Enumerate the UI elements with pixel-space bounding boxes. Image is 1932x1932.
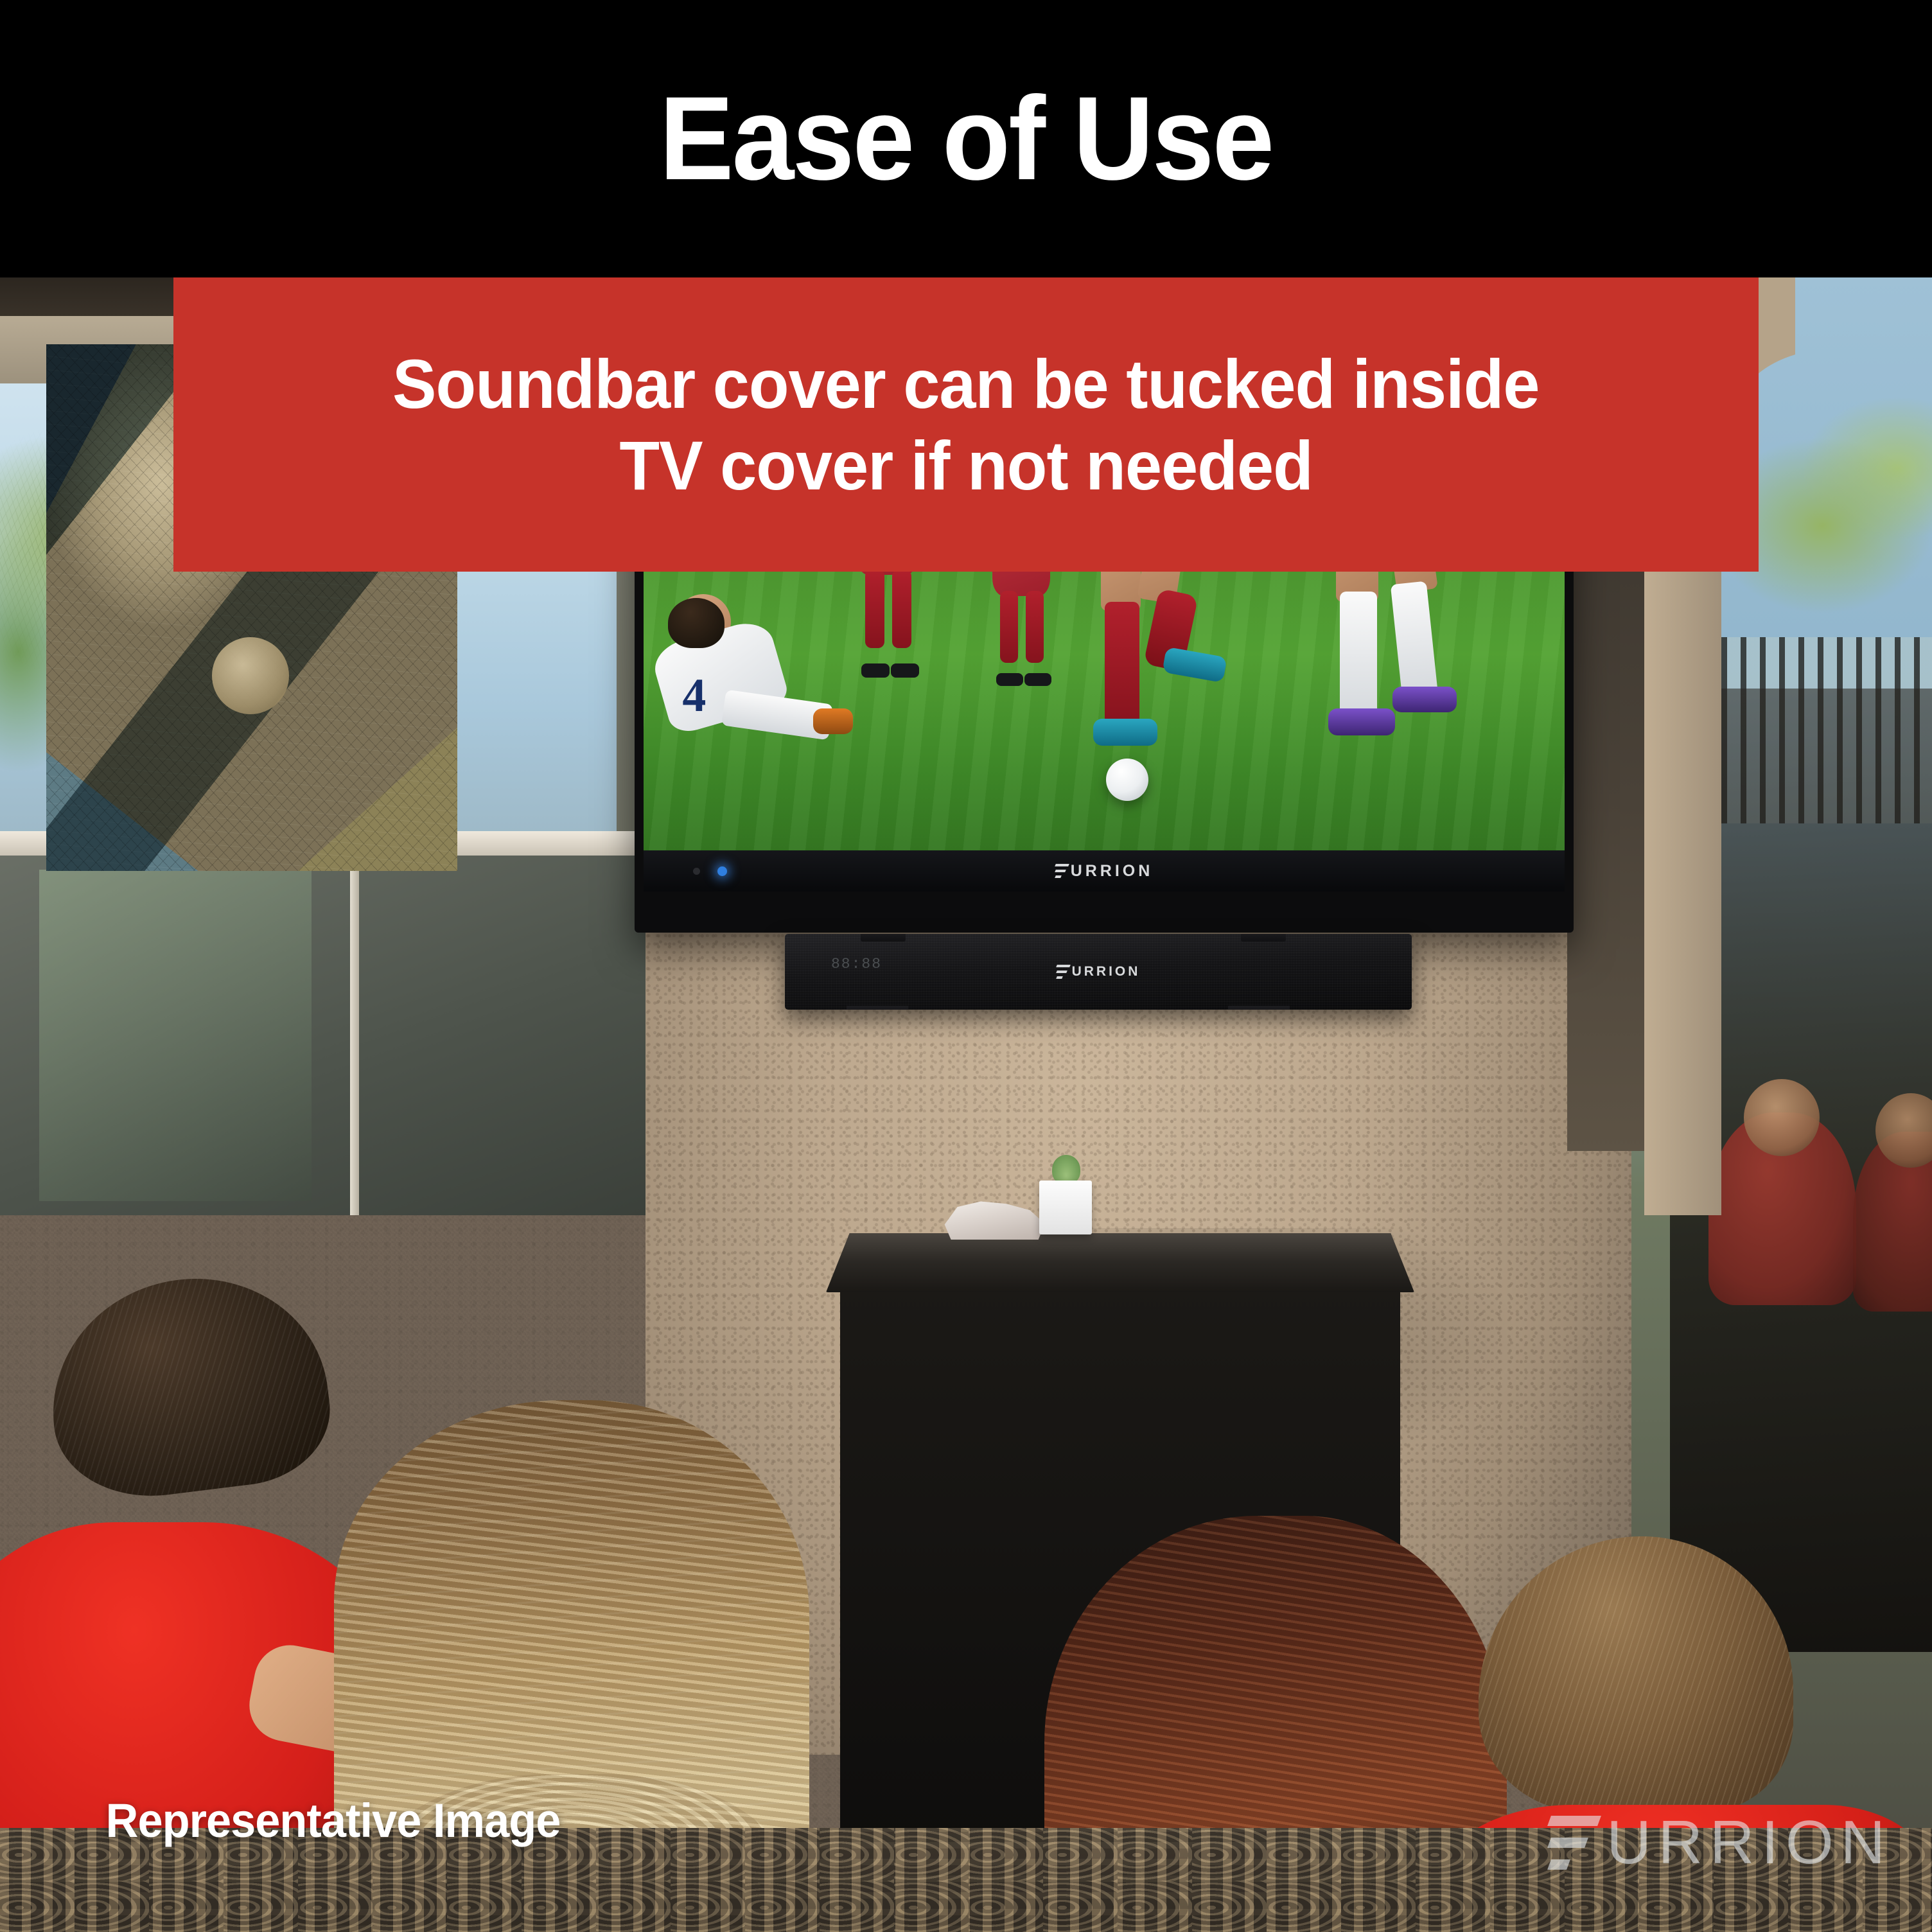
soundbar-brand-logo: URRION <box>1057 964 1141 979</box>
tv-ir-sensor <box>693 868 700 875</box>
soundbar-bracket-right <box>1241 934 1286 942</box>
soundbar-foot-right <box>1228 1006 1290 1010</box>
representative-image-disclaimer: Representative Image <box>106 1793 561 1848</box>
soundbar-foot-left <box>847 1006 908 1010</box>
tv-power-led <box>717 866 727 876</box>
cabinet-top-surface <box>826 1233 1414 1292</box>
furrion-f-icon-soundbar <box>1057 964 1070 979</box>
furrion-f-icon-watermark <box>1549 1813 1599 1872</box>
player-white-sliding: 4 <box>653 589 845 750</box>
header-bar: Ease of Use <box>0 0 1932 277</box>
banner-line-1: Soundbar cover can be tucked inside <box>392 343 1540 425</box>
soccer-ball <box>1106 759 1148 801</box>
tv-bezel: URRION <box>644 850 1565 891</box>
white-planter <box>1039 1181 1092 1234</box>
seated-man-head <box>1744 1079 1820 1156</box>
lower-window <box>0 856 649 1215</box>
tv-brand-logo: URRION <box>1055 862 1154 881</box>
page-title: Ease of Use <box>660 80 1273 198</box>
furrion-f-icon <box>1055 863 1069 879</box>
watermark-brand-text: URRION <box>1606 1807 1892 1878</box>
soundbar-bracket-left <box>861 934 906 942</box>
marketing-image-page: Ease of Use <box>0 0 1932 1932</box>
window-mullion <box>350 856 359 1215</box>
feature-callout-banner: Soundbar cover can be tucked inside TV c… <box>173 277 1759 572</box>
furrion-watermark-logo: URRION <box>1549 1807 1892 1878</box>
furrion-soundbar: 88:88 URRION <box>785 934 1412 1010</box>
tv-brand-text: URRION <box>1071 862 1154 881</box>
soundbar-brand-text: URRION <box>1072 964 1141 979</box>
cabinet-mosaic-circle <box>212 637 289 714</box>
banner-line-2: TV cover if not needed <box>619 425 1312 506</box>
soundbar-led-display: 88:88 <box>831 956 882 972</box>
